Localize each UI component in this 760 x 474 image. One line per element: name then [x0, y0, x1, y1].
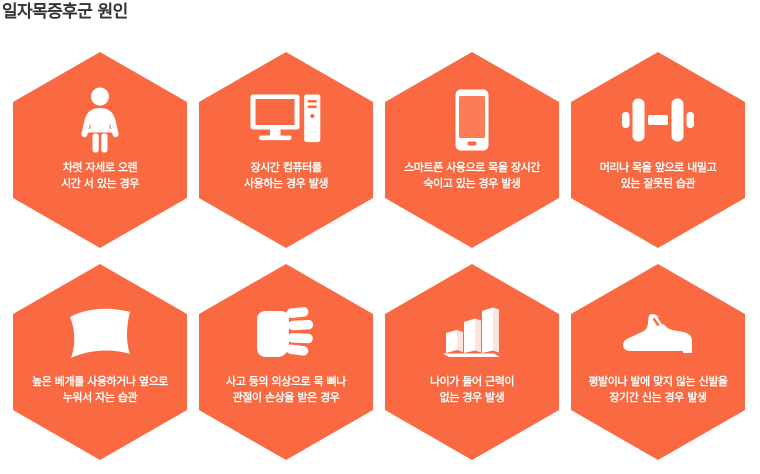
hex-content: 나이가 들어 근력이 없는 경우 발생 [385, 264, 559, 460]
dumbbell-icon [622, 86, 694, 154]
hexagon-grid: 차렷 자세로 오랜 시간 서 있는 경우 장시간 컴퓨터를 사용하는 경우 발생 [0, 46, 760, 474]
hex-label: 평발이나 발에 맞지 않는 신발을 장기간 신는 경우 발생 [574, 374, 742, 406]
page-title: 일자목증후군 원인 [2, 1, 128, 23]
hex-cell-2[interactable]: 장시간 컴퓨터를 사용하는 경우 발생 [199, 52, 373, 248]
hex-cell-4[interactable]: 머리나 목을 앞으로 내밀고 있는 잘못된 습관 [571, 52, 745, 248]
hex-label: 높은 베개를 사용하거나 옆으로 누워서 자는 습관 [16, 374, 184, 406]
hex-cell-5[interactable]: 높은 베개를 사용하거나 옆으로 누워서 자는 습관 [13, 264, 187, 460]
hex-label: 나이가 들어 근력이 없는 경우 발생 [388, 374, 556, 406]
hex-content: 스마트폰 사용으로 목을 장시간 숙이고 있는 경우 발생 [385, 52, 559, 248]
hex-cell-7[interactable]: 나이가 들어 근력이 없는 경우 발생 [385, 264, 559, 460]
standing-person-icon [64, 86, 136, 154]
hex-cell-8[interactable]: 평발이나 발에 맞지 않는 신발을 장기간 신는 경우 발생 [571, 264, 745, 460]
hex-content: 높은 베개를 사용하거나 옆으로 누워서 자는 습관 [13, 264, 187, 460]
hex-cell-3[interactable]: 스마트폰 사용으로 목을 장시간 숙이고 있는 경우 발생 [385, 52, 559, 248]
hex-content: 사고 등의 외상으로 목 뼈나 관절이 손상을 받은 경우 [199, 264, 373, 460]
dress-shoe-icon [622, 300, 694, 368]
pillow-icon [64, 300, 136, 368]
hex-content: 차렷 자세로 오랜 시간 서 있는 경우 [13, 52, 187, 248]
hex-label: 차렷 자세로 오랜 시간 서 있는 경우 [16, 160, 184, 192]
hex-label: 장시간 컴퓨터를 사용하는 경우 발생 [202, 160, 370, 192]
hex-cell-1[interactable]: 차렷 자세로 오랜 시간 서 있는 경우 [13, 52, 187, 248]
desktop-computer-icon [250, 86, 322, 154]
hex-content: 평발이나 발에 맞지 않는 신발을 장기간 신는 경우 발생 [571, 264, 745, 460]
bar-chart-icon [436, 300, 508, 368]
smartphone-icon [436, 86, 508, 154]
hex-label: 사고 등의 외상으로 목 뼈나 관절이 손상을 받은 경우 [202, 374, 370, 406]
hex-label: 머리나 목을 앞으로 내밀고 있는 잘못된 습관 [574, 160, 742, 192]
fist-hand-icon [250, 300, 322, 368]
hex-content: 장시간 컴퓨터를 사용하는 경우 발생 [199, 52, 373, 248]
hex-cell-6[interactable]: 사고 등의 외상으로 목 뼈나 관절이 손상을 받은 경우 [199, 264, 373, 460]
hex-label: 스마트폰 사용으로 목을 장시간 숙이고 있는 경우 발생 [388, 160, 556, 192]
hex-content: 머리나 목을 앞으로 내밀고 있는 잘못된 습관 [571, 52, 745, 248]
